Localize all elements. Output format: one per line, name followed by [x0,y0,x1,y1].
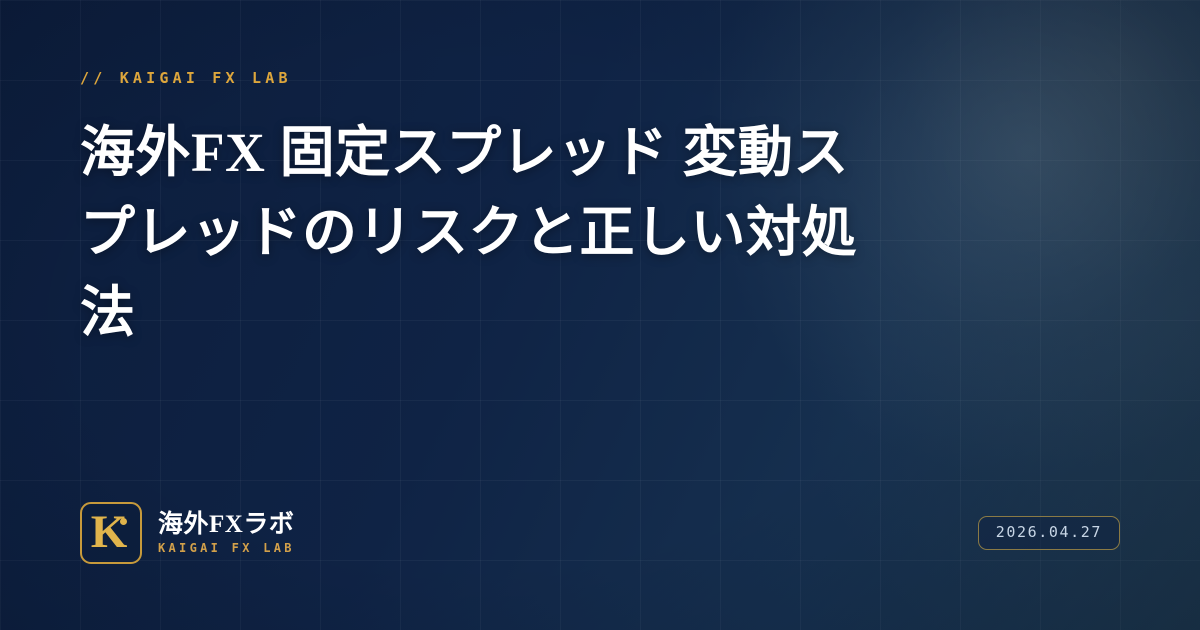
card-footer: K 海外FXラボ KAIGAI FX LAB 2026.04.27 [80,502,1120,564]
logo-letter: K [91,509,128,556]
eyebrow-label: // KAIGAI FX LAB [80,69,292,87]
card-content: // KAIGAI FX LAB 海外FX 固定スプレッド 変動スプレッドのリス… [0,0,1200,630]
og-card: // KAIGAI FX LAB 海外FX 固定スプレッド 変動スプレッドのリス… [0,0,1200,630]
brand-latin-name: KAIGAI FX LAB [158,541,295,555]
page-title: 海外FX 固定スプレッド 変動スプレッドのリスクと正しい対処法 [80,113,880,353]
brand-name: 海外FXラボ [158,511,295,539]
brand-lockup: K 海外FXラボ KAIGAI FX LAB [80,502,295,564]
logo-dot-icon [120,518,127,525]
date-badge: 2026.04.27 [978,516,1120,550]
k-monogram-icon: K [80,502,142,564]
brand-text-block: 海外FXラボ KAIGAI FX LAB [158,511,295,556]
